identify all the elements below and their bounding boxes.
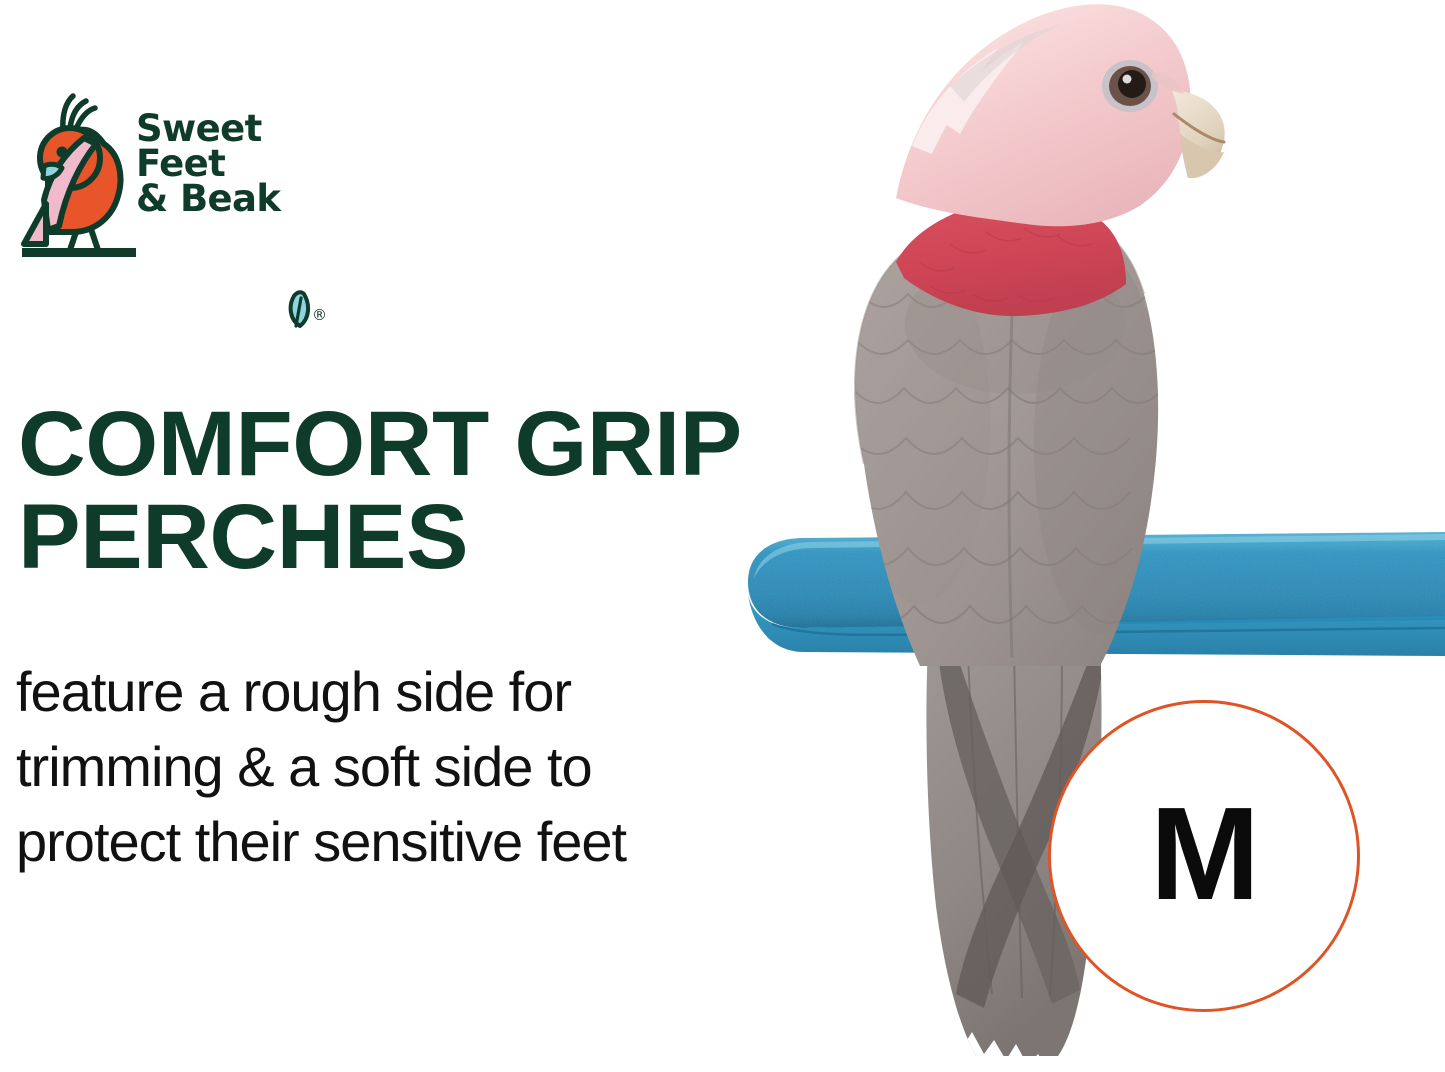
- size-badge: M: [1048, 700, 1360, 1012]
- parrot-logo-icon: [18, 92, 136, 264]
- description-line-1: feature a rough side for: [16, 654, 806, 729]
- leaf-icon: [280, 290, 314, 332]
- product-infographic: Sweet Feet & Beak ® COMFORT GRIP PERCHES…: [0, 0, 1445, 1072]
- registered-trademark-symbol: ®: [312, 308, 327, 323]
- size-badge-label: M: [1150, 788, 1258, 920]
- brand-name-line-3: & Beak: [136, 182, 296, 217]
- bird-head: [896, 4, 1225, 226]
- headline-line-1: COMFORT GRIP: [18, 398, 834, 492]
- page-title: COMFORT GRIP PERCHES: [18, 398, 834, 586]
- product-description: feature a rough side for trimming & a so…: [16, 654, 806, 879]
- brand-wordmark: Sweet Feet & Beak: [136, 112, 296, 216]
- description-line-2: trimming & a soft side to: [16, 729, 806, 804]
- headline-line-2: PERCHES: [18, 491, 834, 585]
- brand-logo[interactable]: Sweet Feet & Beak ®: [18, 92, 318, 267]
- description-line-3: protect their sensitive feet: [16, 804, 806, 879]
